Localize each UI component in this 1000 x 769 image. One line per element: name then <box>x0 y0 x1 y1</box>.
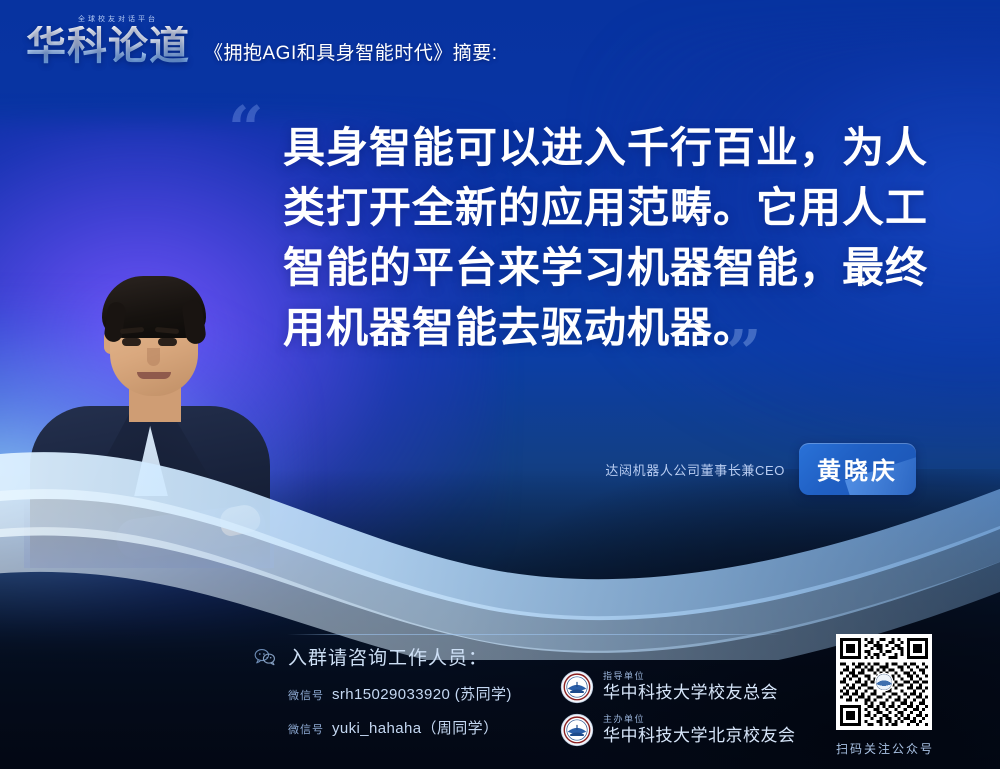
qr-code-icon[interactable] <box>836 634 932 730</box>
qr-caption: 扫码关注公众号 <box>836 740 934 757</box>
wechat-label: 微信号 <box>288 687 324 703</box>
qr-block: 扫码关注公众号 <box>836 634 934 757</box>
contact-row: 微信号 yuki_hahaha（周同学） <box>254 717 512 738</box>
contact-title: 入群请咨询工作人员： <box>288 643 488 670</box>
attribution: 达闼机器人公司董事长兼CEO 黄晓庆 <box>605 443 916 495</box>
header-bar: 全球校友对话平台 华科论道 《拥抱AGI和具身智能时代》摘要: <box>0 0 1000 92</box>
portrait-eye-left <box>122 338 141 346</box>
wechat-label: 微信号 <box>288 721 324 737</box>
portrait-nose <box>147 348 160 366</box>
organization-name: 华中科技大学北京校友会 <box>603 727 796 745</box>
portrait-hair <box>102 276 206 338</box>
speaker-name: 黄晓庆 <box>817 458 898 485</box>
organization-kind: 主办单位 <box>603 715 796 724</box>
contact-row: 微信号 srh15029033920 (苏同学) <box>254 683 512 704</box>
brand-name: 华科论道 <box>26 26 190 66</box>
speaker-role: 达闼机器人公司董事长兼CEO <box>605 460 785 479</box>
organization-text: 主办单位 华中科技大学北京校友会 <box>603 715 796 744</box>
quote-text: 具身智能可以进入千行百业，为人类打开全新的应用范畴。它用人工智能的平台来学习机器… <box>283 118 943 358</box>
quote-open-icon: “ <box>228 98 264 160</box>
portrait-mouth <box>137 372 171 379</box>
wechat-icon <box>254 648 276 666</box>
organizations-block: 指导单位 华中科技大学校友总会 主办单位 华中科技大学北京校友会 <box>560 670 796 756</box>
qr-matrix <box>840 638 928 726</box>
page-title: 《拥抱AGI和具身智能时代》摘要: <box>204 38 498 65</box>
wechat-id: srh15029033920 (苏同学) <box>332 683 512 704</box>
organization-kind: 指导单位 <box>603 672 778 681</box>
contact-header: 入群请咨询工作人员： <box>254 643 512 670</box>
footer-divider <box>287 634 782 635</box>
poster-canvas: 全球校友对话平台 华科论道 《拥抱AGI和具身智能时代》摘要: “ ” 具身智能… <box>0 0 1000 769</box>
brand-tagline: 全球校友对话平台 <box>78 14 158 24</box>
portrait-eye-right <box>158 338 177 346</box>
organization-name: 华中科技大学校友总会 <box>603 684 778 702</box>
organization-item: 指导单位 华中科技大学校友总会 <box>560 670 796 704</box>
brand-logo: 全球校友对话平台 华科论道 <box>26 26 190 66</box>
university-seal-icon <box>560 713 594 747</box>
wechat-id: yuki_hahaha（周同学） <box>332 717 498 738</box>
organization-item: 主办单位 华中科技大学北京校友会 <box>560 713 796 747</box>
university-seal-icon <box>560 670 594 704</box>
organization-text: 指导单位 华中科技大学校友总会 <box>603 672 778 701</box>
speaker-name-badge: 黄晓庆 <box>799 443 916 495</box>
contact-block: 入群请咨询工作人员： 微信号 srh15029033920 (苏同学) 微信号 … <box>254 643 512 738</box>
